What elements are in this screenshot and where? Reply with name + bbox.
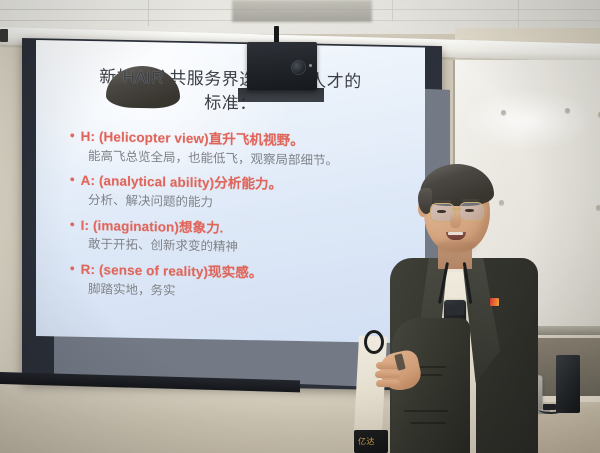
projector-shadow	[238, 88, 324, 102]
glasses-bridge	[452, 208, 461, 210]
bullet-marker-icon: •	[70, 261, 75, 274]
teeth	[448, 232, 463, 235]
slide-title: 新加坡公共服务界选拔精英人才的 HAIR标准：	[54, 64, 407, 119]
lapel-pin	[490, 298, 499, 306]
eye-right	[465, 209, 474, 212]
bullet-marker-icon: •	[70, 217, 75, 230]
bullet-i-cn: 想象力.	[179, 219, 223, 235]
bullet-h-cn: 直升飞机视野。	[209, 132, 304, 149]
classroom-photo-scene: 新加坡公共服务界选拔精英人才的 HAIR标准： • H: (Helicopter…	[0, 0, 600, 453]
bullet-r-cn: 现实感。	[208, 264, 262, 280]
mic-display-icon	[446, 305, 464, 315]
projector-lens-icon	[291, 60, 306, 75]
ceiling-projector	[247, 42, 317, 90]
projector-led-icon	[309, 64, 312, 67]
bullet-r-letter: R: (sense of reality)	[81, 261, 208, 278]
eye-left	[437, 210, 446, 213]
ceiling-shadow	[232, 0, 372, 22]
bullet-marker-icon: •	[70, 173, 75, 186]
speaker-person: 亿达	[350, 140, 580, 453]
chin-shadow	[436, 240, 476, 252]
bullet-marker-icon: •	[70, 129, 75, 142]
nose	[450, 213, 461, 228]
bullet-a-letter: A: (analytical ability)	[81, 173, 215, 191]
bullet-a-cn: 分析能力。	[214, 176, 282, 192]
roller-end-cap	[0, 29, 8, 42]
bullet-i-letter: I: (imagination)	[81, 217, 179, 234]
bag-strap-ring	[364, 330, 384, 354]
bag-label: 亿达	[358, 436, 384, 447]
bullet-h-letter: H: (Helicopter view)	[81, 129, 209, 146]
